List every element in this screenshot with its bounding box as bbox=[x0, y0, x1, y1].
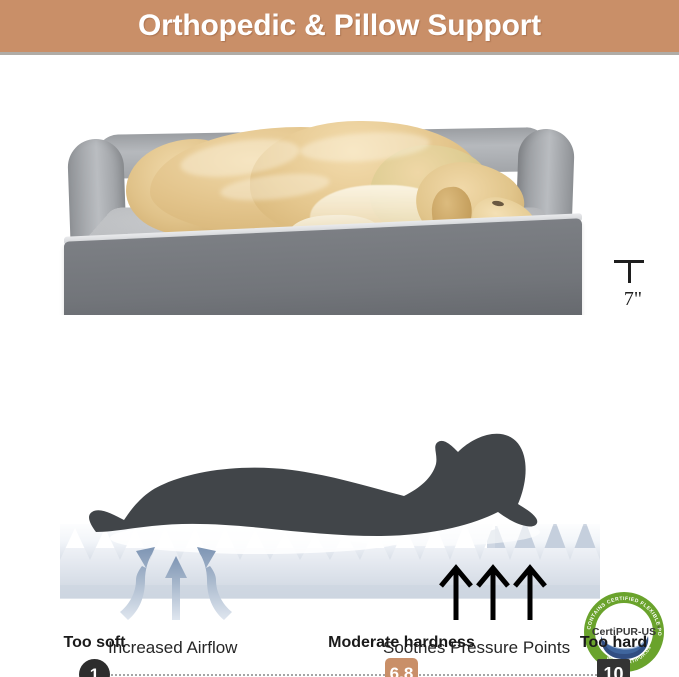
hardness-node-moderate: Moderate hardness 6.8 Egg Crate Foam bbox=[385, 658, 418, 677]
header-banner: Orthopedic & Pillow Support bbox=[0, 0, 679, 52]
hardness-badge-1: 1 bbox=[79, 659, 110, 677]
hardness-node-too-soft: Too soft 1 Lack of support bbox=[79, 659, 110, 677]
bed-height-dimension: 7" bbox=[608, 260, 652, 315]
dog-silhouette bbox=[89, 434, 537, 536]
product-photo: Bedsure 7" bbox=[0, 55, 679, 315]
hardness-node-too-hard: Too hard 10 Unable to release stress bbox=[597, 659, 630, 677]
dimension-top-stem bbox=[628, 262, 631, 283]
hardness-node-top-label: Too hard bbox=[580, 634, 647, 652]
hardness-scale-line bbox=[88, 674, 616, 676]
caption-increased-airflow: Increased Airflow bbox=[108, 638, 237, 658]
hardness-node-top-label: Too soft bbox=[64, 634, 126, 652]
hardness-badge-6-8: 6.8 bbox=[385, 658, 418, 677]
pressure-arrows bbox=[441, 568, 545, 620]
product-infographic: Orthopedic & Pillow Support bbox=[0, 0, 679, 677]
hardness-badge-10: 10 bbox=[597, 659, 630, 677]
dimension-value: 7" bbox=[616, 288, 650, 311]
hardness-node-top-label: Moderate hardness bbox=[328, 634, 475, 652]
page-title: Orthopedic & Pillow Support bbox=[138, 9, 541, 43]
hardness-scale: Too soft 1 Lack of support Moderate hard… bbox=[0, 318, 679, 418]
